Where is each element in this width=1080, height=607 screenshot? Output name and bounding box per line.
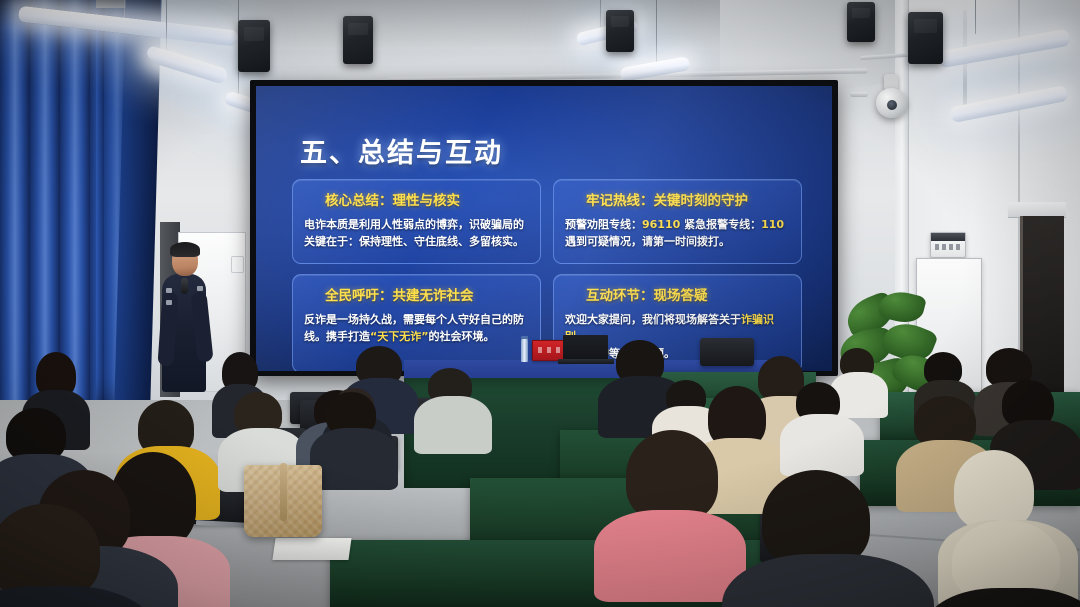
card-title: 牢记热线：关键时刻的守护 bbox=[586, 189, 748, 209]
hair bbox=[954, 450, 1034, 530]
card-title: 互动环节：现场答疑 bbox=[586, 284, 708, 304]
handbag[interactable] bbox=[244, 465, 322, 537]
card-body: 反诈是一场持久战，需要每个人守好自己的防 线。携手打造“天下无诈”的社会环境。 bbox=[304, 311, 529, 345]
microphone bbox=[181, 278, 188, 294]
card-body-line: 关键在于：保持理性、守住底线、多留核实。 bbox=[304, 233, 529, 250]
uniform-badge-icon bbox=[166, 300, 172, 305]
hair bbox=[626, 430, 718, 522]
water-bottle bbox=[521, 339, 528, 362]
card-core-summary: 核心总结：理性与核实 电诈本质是利用人性弱点的博弈，识破骗局的 关键在于：保持理… bbox=[292, 179, 541, 264]
card-title: 核心总结：理性与核实 bbox=[325, 189, 460, 209]
torso bbox=[310, 428, 398, 490]
nameplate-text bbox=[538, 347, 565, 353]
ceiling-speaker bbox=[908, 12, 943, 64]
ceiling-speaker bbox=[847, 2, 875, 42]
shield-icon bbox=[304, 192, 319, 207]
wall-mounted-sign bbox=[930, 232, 966, 258]
card-body: 电诈本质是利用人性弱点的博弈，识破骗局的 关键在于：保持理性、守住底线、多留核实… bbox=[304, 216, 529, 250]
stage-curtain-inner bbox=[0, 0, 96, 412]
qa-text-pre: 欢迎大家提问，我们将现场解答关于 bbox=[565, 313, 741, 326]
camera-lens-icon bbox=[887, 100, 897, 110]
slide-title: 五、总结与互动 bbox=[300, 131, 503, 170]
sign-text bbox=[935, 244, 961, 250]
card-header: 牢记热线：关键时刻的守护 bbox=[565, 189, 790, 209]
presentation-screen[interactable]: 五、总结与互动 核心总结：理性与核实 电诈本质是利用人性弱点的博弈，识破骗局的 … bbox=[256, 86, 832, 371]
hotline-label-2: 紧急报警专线： bbox=[680, 218, 761, 231]
card-body-line: 电诈本质是利用人性弱点的博弈，识破骗局的 bbox=[304, 216, 529, 233]
person-icon bbox=[304, 287, 319, 302]
card-body: 预警劝阻专线：96110 紧急报警专线：110 遇到可疑情况，请第一时间拨打。 bbox=[565, 216, 790, 250]
laptop-screen[interactable] bbox=[563, 335, 608, 361]
laptop-base bbox=[558, 359, 614, 364]
presenter-hair bbox=[170, 242, 200, 257]
card-header: 全民呼吁：共建无诈社会 bbox=[304, 284, 529, 304]
hotline-label-1: 预警劝阻专线： bbox=[565, 218, 642, 231]
card-body-line: 预警劝阻专线：96110 紧急报警专线：110 bbox=[565, 216, 790, 233]
sign-header-bar bbox=[931, 233, 965, 241]
torso bbox=[780, 414, 864, 476]
phone-icon bbox=[565, 192, 580, 207]
wall-bracket bbox=[850, 92, 868, 97]
ceiling-speaker bbox=[238, 20, 270, 72]
card-body-line: 反诈是一场持久战，需要每个人守好自己的防 bbox=[304, 311, 529, 328]
uniform-badge-icon bbox=[166, 288, 172, 293]
chair-back[interactable] bbox=[700, 338, 754, 366]
ceiling-speaker bbox=[606, 10, 634, 52]
paper-sheet[interactable] bbox=[272, 538, 351, 560]
light-wire bbox=[975, 0, 976, 34]
uniform-badge-icon bbox=[197, 286, 203, 291]
handbag-strap bbox=[280, 463, 287, 521]
light-wire bbox=[656, 0, 657, 62]
torso bbox=[414, 396, 492, 454]
card-public-appeal: 全民呼吁：共建无诈社会 反诈是一场持久战，需要每个人守好自己的防 线。携手打造“… bbox=[292, 274, 541, 371]
torso bbox=[594, 510, 746, 602]
appeal-text-pre: 线。携手打造 bbox=[304, 330, 370, 343]
card-title: 全民呼吁：共建无诈社会 bbox=[325, 284, 474, 304]
hotline-number-110: 110 bbox=[761, 218, 784, 231]
card-header: 互动环节：现场答疑 bbox=[565, 284, 790, 304]
card-header: 核心总结：理性与核实 bbox=[304, 189, 529, 209]
chat-icon bbox=[565, 287, 580, 302]
card-body-line: 遇到可疑情况，请第一时间拨打。 bbox=[565, 233, 790, 250]
card-body-line: 线。携手打造“天下无诈”的社会环境。 bbox=[304, 328, 529, 345]
light-wire bbox=[166, 0, 167, 52]
hotline-number-96110: 96110 bbox=[642, 218, 680, 231]
appeal-text-post: 的社会环境。 bbox=[428, 330, 494, 343]
lecture-hall-photo: 五、总结与互动 核心总结：理性与核实 电诈本质是利用人性弱点的博弈，识破骗局的 … bbox=[0, 0, 1080, 607]
light-switch[interactable] bbox=[231, 256, 244, 273]
card-hotline: 牢记热线：关键时刻的守护 预警劝阻专线：96110 紧急报警专线：110 遇到可… bbox=[553, 179, 802, 264]
light-wire bbox=[600, 0, 601, 28]
ceiling-speaker bbox=[343, 16, 373, 64]
appeal-slogan: “天下无诈” bbox=[370, 330, 428, 343]
